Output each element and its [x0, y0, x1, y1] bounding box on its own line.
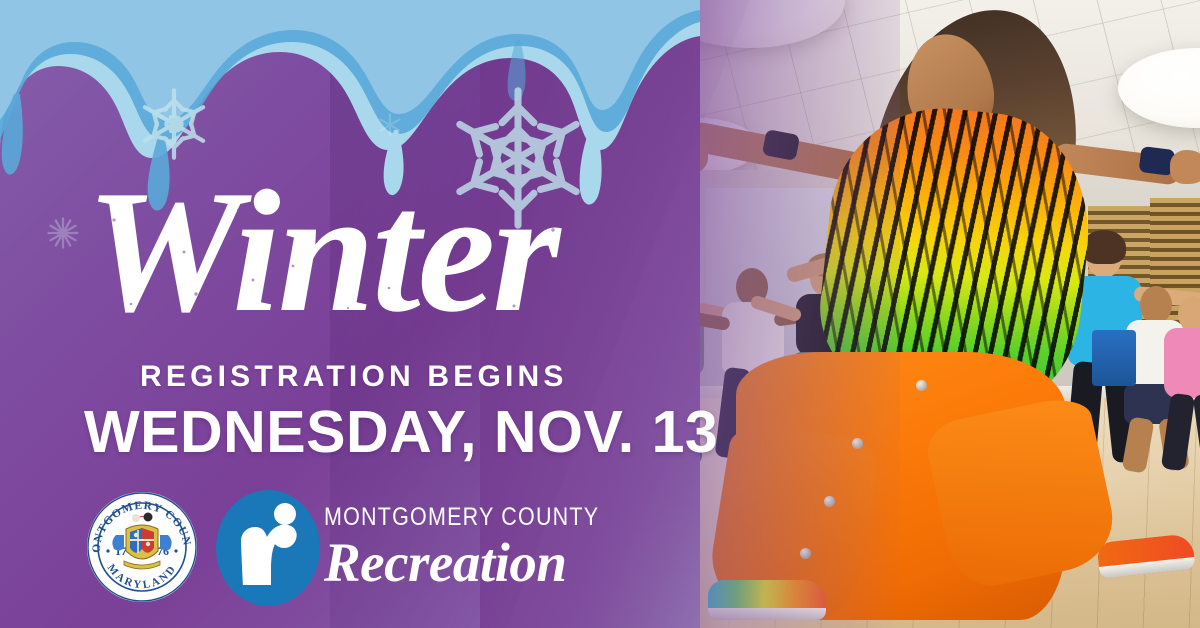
- winter-word: Winter: [86, 154, 562, 348]
- montgomery-county-seal[interactable]: MONTGOMERY COUNTY MARYLAND 17 76: [86, 491, 198, 603]
- recreation-r-logomark[interactable]: [213, 489, 323, 607]
- wordmark-top-line: MONTGOMERY COUNTY: [324, 503, 599, 532]
- snowflake-small-faint-b: [375, 110, 405, 140]
- winter-registration-poster: Winter Winter: [0, 0, 1200, 628]
- r-dot: [274, 503, 296, 525]
- registration-subheading: REGISTRATION BEGINS: [140, 360, 568, 394]
- registration-date: WEDNESDAY, NOV. 13: [84, 398, 718, 466]
- headline-script-winter: Winter Winter: [86, 176, 646, 356]
- recreation-wordmark: MONTGOMERY COUNTY Recreation: [324, 503, 644, 591]
- snowflake-small-faint-a: [44, 214, 82, 252]
- wordmark-main: Recreation: [324, 534, 644, 591]
